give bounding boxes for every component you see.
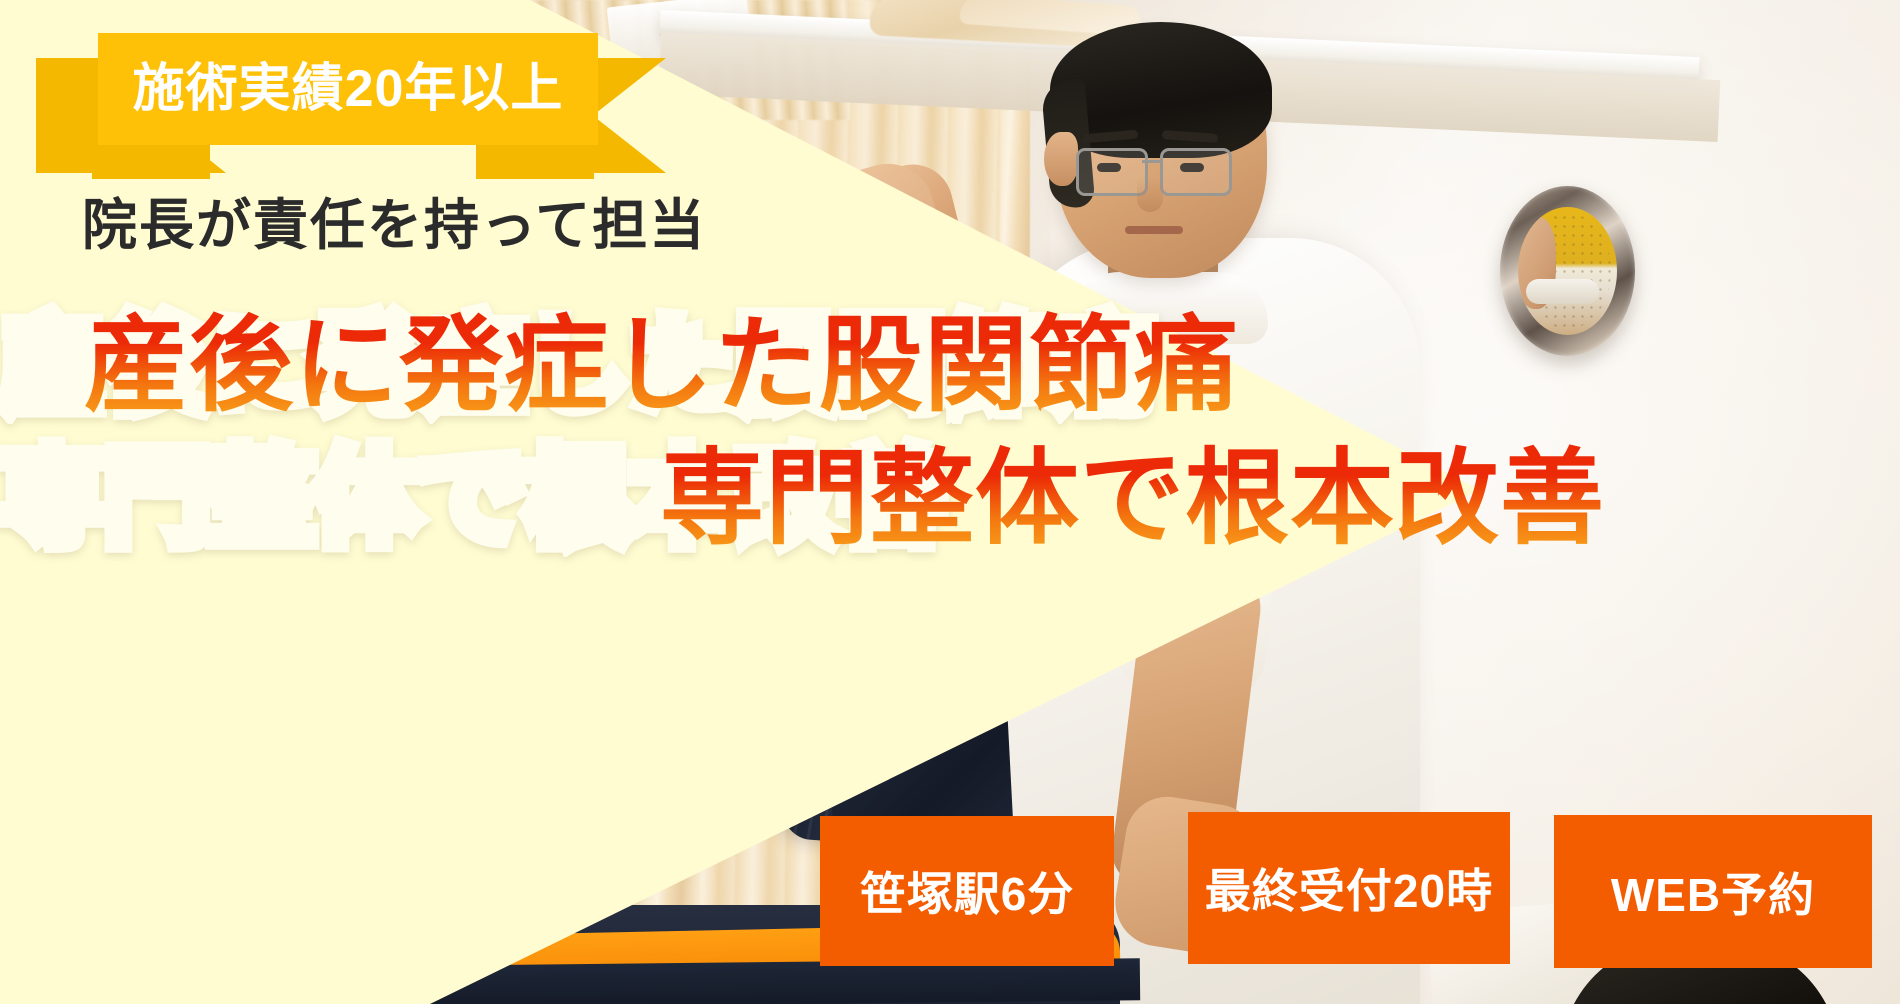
headline-line-1-fill: 産後に発症した股関節痛 — [84, 308, 1239, 424]
practitioner-nose — [1137, 178, 1163, 212]
subtitle-text: 院長が責任を持って担当 — [82, 194, 706, 257]
ribbon-main-panel: 施術実績20年以上 — [98, 33, 598, 145]
practitioner-mouth — [1125, 226, 1183, 234]
practitioner-ear — [1044, 132, 1078, 186]
eyeglasses-right-lens — [1160, 148, 1232, 196]
cta-button-web-reservation[interactable]: WEB予約 — [1554, 815, 1872, 968]
headline-line-2: 専門整体で根本改善 専門整体で根本改善 — [0, 433, 1900, 566]
cta-button-station-access[interactable]: 笹塚駅6分 — [820, 816, 1114, 966]
headline-line-1: 産後に発症した股関節痛 産後に発症した股関節痛 — [0, 300, 1900, 433]
ribbon-label: 施術実績20年以上 — [133, 63, 564, 115]
headline-block: 産後に発症した股関節痛 産後に発症した股関節痛 専門整体で根本改善 専門整体で根… — [0, 300, 1900, 566]
hero-banner: 施術実績20年以上 院長が責任を持って担当 産後に発症した股関節痛 産後に発症し… — [0, 0, 1900, 1004]
ribbon-fold-right — [476, 143, 594, 179]
eyeglasses-bridge — [1142, 160, 1162, 163]
ribbon-fold-left — [92, 143, 210, 179]
headline-line-2-fill: 専門整体で根本改善 — [660, 441, 1605, 557]
cta-button-last-reception[interactable]: 最終受付20時 — [1188, 812, 1510, 964]
